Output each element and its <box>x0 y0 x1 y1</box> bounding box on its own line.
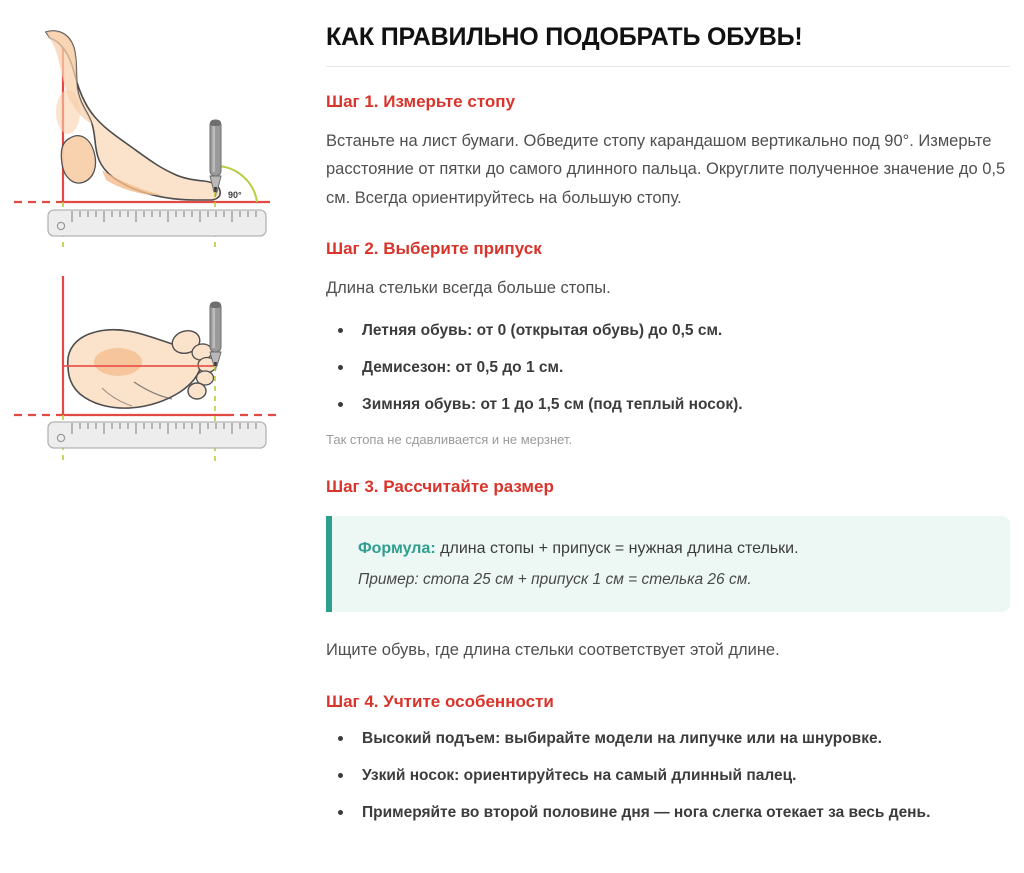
section-step-4: Шаг 4. Учтите особенности Высокий подъем… <box>326 691 1010 825</box>
step-1-title: Шаг 1. Измерьте стопу <box>326 91 1010 113</box>
step-3-title: Шаг 3. Рассчитайте размер <box>326 476 1010 498</box>
page-title: КАК ПРАВИЛЬНО ПОДОБРАТЬ ОБУВЬ! <box>326 22 1010 52</box>
section-step-1: Шаг 1. Измерьте стопу Встаньте на лист б… <box>326 91 1010 212</box>
infographic-page: 90° <box>0 0 1024 873</box>
foot-sole-shape <box>68 327 216 408</box>
ruler-icon <box>48 210 266 236</box>
foot-side-view-svg: 90° <box>6 20 306 260</box>
foot-top-view-diagram <box>6 270 306 470</box>
step-2-bullet-list: Летняя обувь: от 0 (открытая обувь) до 0… <box>326 319 1010 417</box>
step-4-bullet-list: Высокий подъем: выбирайте модели на липу… <box>326 727 1010 825</box>
list-item: Зимняя обувь: от 1 до 1,5 см (под теплый… <box>326 393 1010 416</box>
ruler-icon <box>48 422 266 448</box>
formula-callout: Формула: длина стопы + припуск = нужная … <box>326 516 1010 612</box>
foot-top-view-svg <box>6 270 306 470</box>
formula-example: Пример: стопа 25 см + припуск 1 см = сте… <box>358 568 986 593</box>
step-1-paragraph: Встаньте на лист бумаги. Обведите стопу … <box>326 127 1010 212</box>
section-step-2: Шаг 2. Выберите припуск Длина стельки вс… <box>326 238 1010 450</box>
list-item: Летняя обувь: от 0 (открытая обувь) до 0… <box>326 319 1010 342</box>
list-item: Высокий подъем: выбирайте модели на липу… <box>326 727 1010 750</box>
step-3-outro: Ищите обувь, где длина стельки соответст… <box>326 636 1010 664</box>
title-divider <box>326 66 1010 67</box>
step-4-title: Шаг 4. Учтите особенности <box>326 691 1010 713</box>
section-step-3: Шаг 3. Рассчитайте размер Формула: длина… <box>326 476 1010 665</box>
step-2-intro: Длина стельки всегда больше стопы. <box>326 274 1010 302</box>
list-item: Примеряйте во второй половине дня — нога… <box>326 801 1010 824</box>
content-column: КАК ПРАВИЛЬНО ПОДОБРАТЬ ОБУВЬ! Шаг 1. Из… <box>326 0 1024 837</box>
step-2-title: Шаг 2. Выберите припуск <box>326 238 1010 260</box>
illustration-column: 90° <box>0 0 326 470</box>
angle-label: 90° <box>228 190 242 200</box>
foot-shape <box>46 31 220 200</box>
formula-text: длина стопы + припуск = нужная длина сте… <box>436 540 799 557</box>
list-item: Узкий носок: ориентируйтесь на самый дли… <box>326 764 1010 787</box>
formula-label: Формула: <box>358 540 436 557</box>
step-2-caption: Так стопа не сдавливается и не мерзнет. <box>326 430 1010 450</box>
foot-side-view-diagram: 90° <box>6 20 306 260</box>
list-item: Демисезон: от 0,5 до 1 см. <box>326 356 1010 379</box>
formula-line: Формула: длина стопы + припуск = нужная … <box>358 536 986 562</box>
